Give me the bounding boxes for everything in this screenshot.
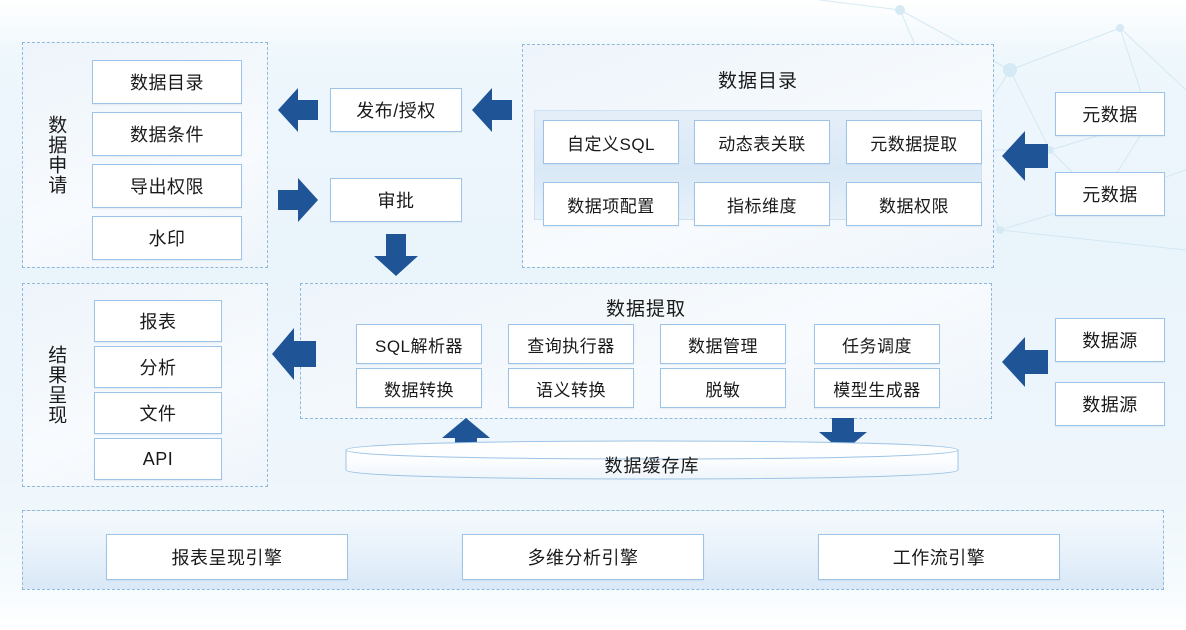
arrow-right-icon-application-to-approval <box>278 176 318 224</box>
node-report-engine[interactable]: 报表呈现引擎 <box>106 534 348 580</box>
node-file[interactable]: 文件 <box>94 392 222 434</box>
node-approval[interactable]: 审批 <box>330 178 462 222</box>
node-data-source-2[interactable]: 数据源 <box>1055 382 1165 426</box>
arrow-down-icon-approval-to-extraction <box>372 234 420 276</box>
node-report[interactable]: 报表 <box>94 300 222 342</box>
data-extraction-title: 数据提取 <box>300 294 992 321</box>
result-presentation-label: 结果呈现 <box>32 292 78 478</box>
node-metadata-2[interactable]: 元数据 <box>1055 172 1165 216</box>
node-data-catalog-request[interactable]: 数据目录 <box>92 60 242 104</box>
node-data-conditions[interactable]: 数据条件 <box>92 112 242 156</box>
arrow-left-icon-metadata-to-catalog <box>1002 128 1048 184</box>
node-data-permission[interactable]: 数据权限 <box>846 182 982 226</box>
node-metric-dimension[interactable]: 指标维度 <box>694 182 830 226</box>
arrow-left-icon-publish-to-application <box>278 86 318 134</box>
node-publish-authorize[interactable]: 发布/授权 <box>330 88 462 132</box>
node-task-scheduling[interactable]: 任务调度 <box>814 324 940 364</box>
node-sql-parser[interactable]: SQL解析器 <box>356 324 482 364</box>
node-query-executor[interactable]: 查询执行器 <box>508 324 634 364</box>
node-analysis[interactable]: 分析 <box>94 346 222 388</box>
node-dynamic-table-join[interactable]: 动态表关联 <box>694 120 830 164</box>
node-api[interactable]: API <box>94 438 222 480</box>
node-data-management[interactable]: 数据管理 <box>660 324 786 364</box>
node-desensitization[interactable]: 脱敏 <box>660 368 786 408</box>
data-application-label: 数据申请 <box>32 52 78 258</box>
node-data-source-1[interactable]: 数据源 <box>1055 318 1165 362</box>
node-semantic-transform[interactable]: 语义转换 <box>508 368 634 408</box>
arrow-left-icon-datasource-to-extraction <box>1002 334 1048 390</box>
node-multidim-analysis-engine[interactable]: 多维分析引擎 <box>462 534 704 580</box>
arrow-left-icon-extraction-to-result <box>272 324 316 384</box>
node-data-item-config[interactable]: 数据项配置 <box>543 182 679 226</box>
data-catalog-title: 数据目录 <box>522 66 994 93</box>
data-cache-store-label: 数据缓存库 <box>344 452 960 478</box>
node-model-generator[interactable]: 模型生成器 <box>814 368 940 408</box>
node-workflow-engine[interactable]: 工作流引擎 <box>818 534 1060 580</box>
node-watermark[interactable]: 水印 <box>92 216 242 260</box>
arrow-left-icon-catalog-to-publish <box>472 86 512 134</box>
node-data-transform[interactable]: 数据转换 <box>356 368 482 408</box>
diagram-canvas: 数据申请 数据目录 数据条件 导出权限 水印 结果呈现 报表 分析 文件 API… <box>0 0 1186 630</box>
node-metadata-extraction[interactable]: 元数据提取 <box>846 120 982 164</box>
node-metadata-1[interactable]: 元数据 <box>1055 92 1165 136</box>
node-export-permission[interactable]: 导出权限 <box>92 164 242 208</box>
node-custom-sql[interactable]: 自定义SQL <box>543 120 679 164</box>
